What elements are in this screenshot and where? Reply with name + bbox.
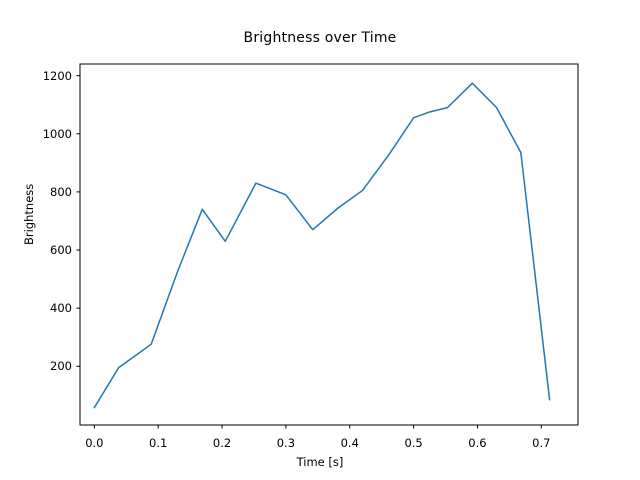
- y-tick-label: 1000: [28, 127, 72, 141]
- x-tick-label: 0.3: [277, 436, 295, 450]
- axes-frame: [80, 64, 578, 425]
- y-tick-label: 1200: [28, 69, 72, 83]
- y-tick-label: 400: [28, 301, 72, 315]
- x-tick-label: 0.1: [149, 436, 167, 450]
- x-tick-marks: [94, 425, 541, 429]
- x-tick-label: 0.5: [404, 436, 422, 450]
- y-tick-label: 600: [28, 243, 72, 257]
- y-tick-label: 800: [28, 185, 72, 199]
- x-tick-label: 0.2: [213, 436, 231, 450]
- chart-figure: Brightness over Time Brightness Time [s]…: [0, 0, 640, 480]
- x-tick-label: 0.4: [341, 436, 359, 450]
- x-tick-label: 0.6: [468, 436, 486, 450]
- x-tick-label: 0.7: [532, 436, 550, 450]
- y-tick-marks: [77, 76, 81, 367]
- plot-area: [0, 0, 640, 480]
- y-tick-label: 200: [28, 359, 72, 373]
- x-tick-label: 0.0: [85, 436, 103, 450]
